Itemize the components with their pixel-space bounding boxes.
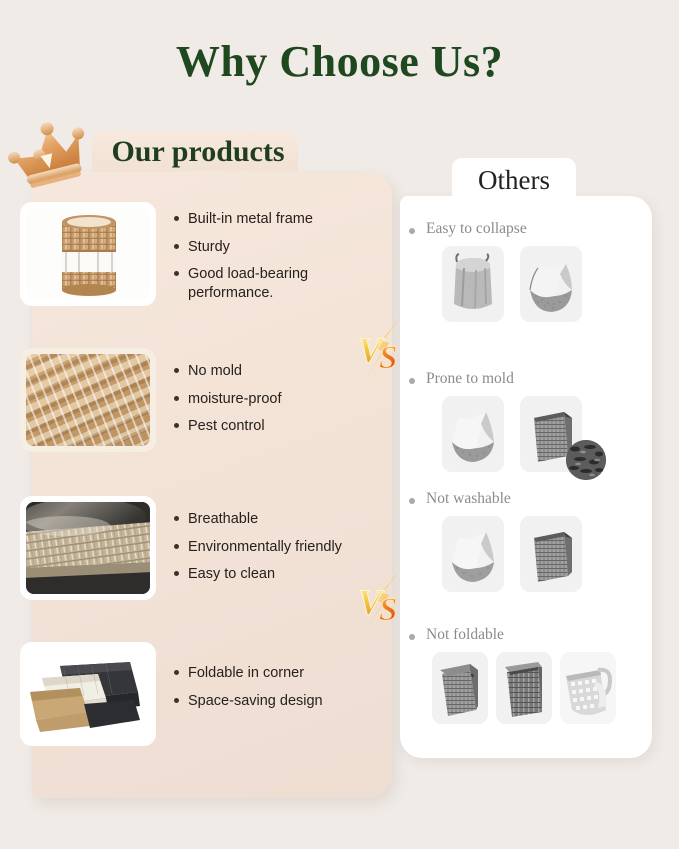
svg-text:S: S <box>379 592 397 628</box>
others-row-2-heading: Prone to mold <box>426 370 514 388</box>
mold-closeup-inset <box>566 440 606 480</box>
ours-row-4-thumbnail <box>20 642 156 746</box>
ours-row-1-thumbnail <box>20 202 156 306</box>
folded-flat-baskets-stack-photo <box>26 648 150 740</box>
collapsing-basket-photo <box>442 516 504 592</box>
sagging-fabric-hamper-photo <box>442 246 504 322</box>
ours-row-3-bullets: Breathable Environmentally friendly Easy… <box>172 510 352 593</box>
svg-text:S: S <box>379 340 397 376</box>
others-row-3-heading: Not washable <box>426 490 511 508</box>
others-tab-label: Others <box>452 162 576 198</box>
list-item: Easy to clean <box>172 565 352 584</box>
vs-badge-lower: V S <box>353 567 409 637</box>
page-title: Why Choose Us? <box>0 36 679 87</box>
woven-rattan-texture-closeup-photo <box>26 354 150 446</box>
others-row-1-heading: Easy to collapse <box>426 220 527 238</box>
ours-row-2: No mold moisture-proof Pest control <box>0 348 360 460</box>
ours-row-2-thumbnail <box>20 348 156 452</box>
list-item: Built-in metal frame <box>172 210 352 229</box>
list-item: Foldable in corner <box>172 664 352 683</box>
others-row-3-thumbnail-2 <box>520 516 582 592</box>
ours-row-1-bullets: Built-in metal frame Sturdy Good load-be… <box>172 210 352 311</box>
list-item: Breathable <box>172 510 352 529</box>
others-row-1-thumbnail-2 <box>520 246 582 322</box>
others-row-4-thumbnail-2 <box>496 652 552 724</box>
our-products-tab-label: Our products <box>98 133 298 171</box>
ours-row-2-bullets: No mold moisture-proof Pest control <box>172 362 352 445</box>
list-item: Good load-bearing performance. <box>172 265 352 302</box>
others-row-4-heading: Not foldable <box>426 626 504 644</box>
ours-row-4: Foldable in corner Space-saving design <box>0 642 360 752</box>
list-item: Environmentally friendly <box>172 538 352 557</box>
others-row-1-thumbnail-1 <box>442 246 504 322</box>
breathable-basket-with-steam-photo <box>26 502 150 594</box>
others-row-1: Easy to collapse <box>400 216 652 328</box>
others-row-2-thumbnail-1 <box>442 396 504 472</box>
list-item: Space-saving design <box>172 692 352 711</box>
collapsing-basket-photo <box>520 246 582 322</box>
list-item: Pest control <box>172 417 352 436</box>
list-item: moisture-proof <box>172 390 352 409</box>
collapsing-basket-photo <box>442 396 504 472</box>
white-plastic-laundry-basket-photo <box>560 652 616 724</box>
others-row-4: Not foldable <box>400 622 652 742</box>
grey-woven-hamper-photo <box>520 516 582 592</box>
others-row-4-thumbnail-3 <box>560 652 616 724</box>
open-woven-basket-photo <box>496 652 552 724</box>
ours-row-3-thumbnail <box>20 496 156 600</box>
ours-row-3: Breathable Environmentally friendly Easy… <box>0 496 360 612</box>
others-row-2: Prone to mold <box>400 366 652 486</box>
others-row-4-thumbnail-1 <box>432 652 488 724</box>
others-row-3-thumbnail-1 <box>442 516 504 592</box>
lidded-woven-hamper-photo <box>432 652 488 724</box>
woven-basket-with-metal-frame-photo <box>26 208 150 300</box>
list-item: No mold <box>172 362 352 381</box>
vs-badge-upper: V S <box>353 315 409 385</box>
list-item: Sturdy <box>172 238 352 257</box>
ours-row-1: Built-in metal frame Sturdy Good load-be… <box>0 202 360 314</box>
ours-row-4-bullets: Foldable in corner Space-saving design <box>172 664 352 719</box>
others-row-3: Not washable <box>400 486 652 606</box>
